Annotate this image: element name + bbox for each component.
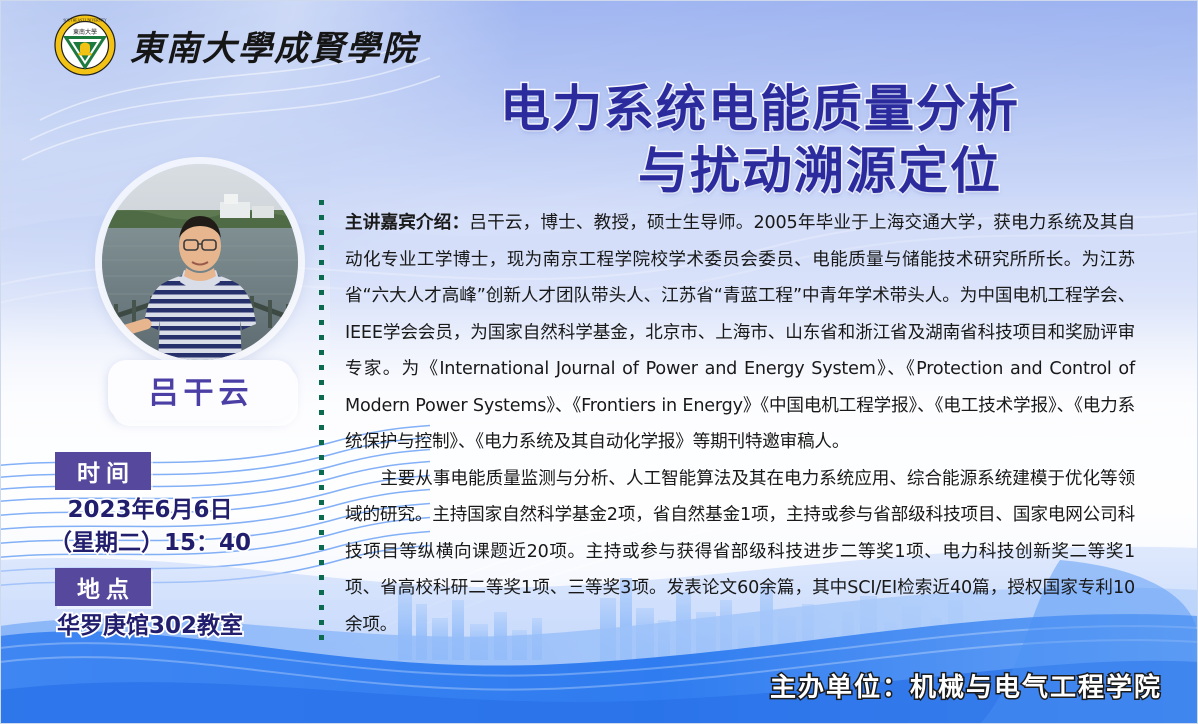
bio-paragraph-2: 主要从事电能质量监测与分析、人工智能算法及其在电力系统应用、综合能源系统建模于优… [345, 461, 1135, 644]
svg-text:東南大學: 東南大學 [73, 28, 97, 36]
speaker-bio-column: 主讲嘉宾介绍：吕干云，博士、教授，硕士生导师。2005年毕业于上海交通大学，获电… [345, 205, 1135, 643]
speaker-photo [102, 164, 298, 360]
bio-intro-label: 主讲嘉宾介绍： [345, 213, 469, 233]
seu-chengxian-seal-icon: 東南大學 SOUTHEAST UNIVERSITY [54, 14, 116, 76]
bio-paragraph-1-text: 吕干云，博士、教授，硕士生导师。2005年毕业于上海交通大学，获电力系统及其自动… [345, 213, 1135, 452]
speaker-name: 吕干云 [149, 368, 254, 412]
svg-text:SOUTHEAST UNIVERSITY: SOUTHEAST UNIVERSITY [63, 19, 107, 23]
time-label: 时间 [71, 454, 135, 488]
time-value: 2023年6月6日 （星期二）15：40 [0, 494, 300, 560]
poster-title: 电力系统电能质量分析 与扰动溯源定位 [380, 78, 1140, 202]
place-value: 华罗庚馆302教室 [0, 610, 300, 643]
organizer-footer: 主办单位：机械与电气工程学院 [770, 667, 1162, 704]
title-line-1: 电力系统电能质量分析 [380, 78, 1140, 140]
time-label-chip: 时间 [55, 452, 151, 490]
place-value-line: 华罗庚馆302教室 [0, 610, 300, 643]
place-label: 地点 [71, 570, 135, 604]
time-value-line-2: （星期二）15：40 [0, 527, 300, 560]
time-value-line-1: 2023年6月6日 [0, 494, 300, 527]
vertical-dotted-divider [319, 200, 324, 648]
poster-canvas: 東南大學 SOUTHEAST UNIVERSITY 東南大學成賢學院 电力系统电… [0, 0, 1198, 724]
bio-paragraph-1: 主讲嘉宾介绍：吕干云，博士、教授，硕士生导师。2005年毕业于上海交通大学，获电… [345, 205, 1135, 461]
title-line-2: 与扰动溯源定位 [380, 140, 1140, 202]
speaker-name-badge: 吕干云 [108, 360, 294, 420]
place-label-chip: 地点 [55, 568, 151, 606]
institution-name: 東南大學成賢學院 [130, 21, 418, 70]
institution-logo-block: 東南大學 SOUTHEAST UNIVERSITY 東南大學成賢學院 [54, 14, 418, 76]
